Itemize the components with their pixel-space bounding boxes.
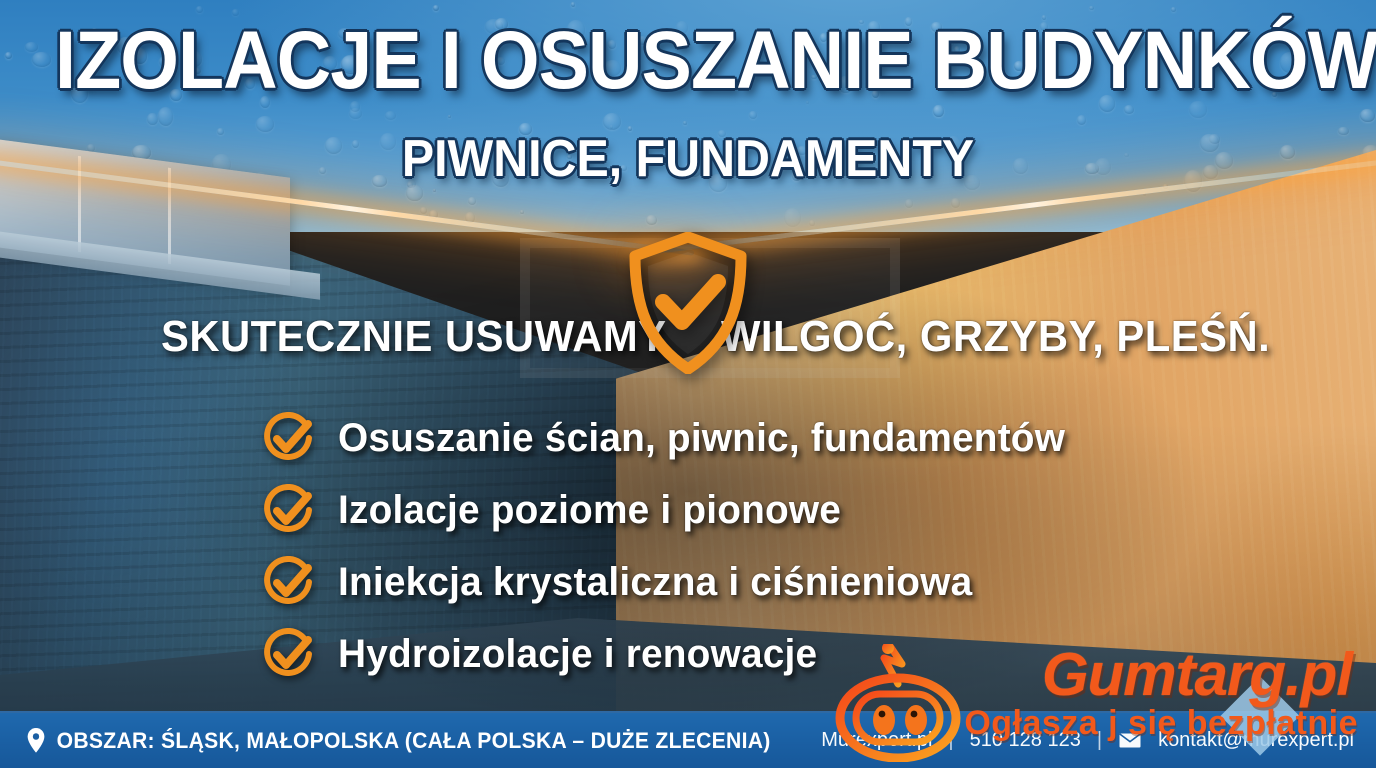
claim-right-text: WILGOĆ, GRZYBY, PLEŚŃ. <box>721 312 1215 362</box>
check-circle-icon <box>262 484 314 536</box>
footer-bar: OBSZAR: ŚLĄSK, MAŁOPOLSKA (CAŁA POLSKA –… <box>0 711 1376 768</box>
service-area-label: OBSZAR: ŚLĄSK, MAŁOPOLSKA (CAŁA POLSKA –… <box>57 728 771 754</box>
service-item: Hydroizolacje i renowacje <box>262 628 1088 680</box>
service-item-label: Iniekcja krystaliczna i ciśnieniowa <box>338 560 972 605</box>
phone-number[interactable]: 510 128 123 <box>970 729 1081 752</box>
service-item: Izolacje poziome i pionowe <box>262 484 1088 536</box>
service-area: OBSZAR: ŚLĄSK, MAŁOPOLSKA (CAŁA POLSKA –… <box>0 728 771 754</box>
headline-title: IZOLACJE I OSUSZANIE BUDYNKÓW <box>55 22 1321 101</box>
service-item-label: Izolacje poziome i pionowe <box>338 488 841 533</box>
advertisement-banner: IZOLACJE I OSUSZANIE BUDYNKÓW PIWNICE, F… <box>0 0 1376 768</box>
service-item: Iniekcja krystaliczna i ciśnieniowa <box>262 556 1088 608</box>
contact-info: Murexpert.pl | 510 128 123 | kontakt@mur… <box>821 729 1376 752</box>
company-name: Murexpert.pl <box>821 729 932 752</box>
service-item-label: Hydroizolacje i renowacje <box>338 632 817 677</box>
map-pin-icon <box>27 728 45 753</box>
claim-left-text: SKUTECZNIE USUWAMY <box>161 312 655 362</box>
ad-content: IZOLACJE I OSUSZANIE BUDYNKÓW PIWNICE, F… <box>0 0 1376 768</box>
shield-check-icon <box>625 232 751 374</box>
email-address[interactable]: kontakt@murexpert.pl <box>1158 729 1354 752</box>
contact-separator: | <box>948 729 953 752</box>
check-circle-icon <box>262 556 314 608</box>
check-circle-icon <box>262 628 314 680</box>
check-circle-icon <box>262 412 314 464</box>
services-list: Osuszanie ścian, piwnic, fundamentów Izo… <box>262 412 1088 680</box>
service-item-label: Osuszanie ścian, piwnic, fundamentów <box>338 416 1065 461</box>
service-item: Osuszanie ścian, piwnic, fundamentów <box>262 412 1088 464</box>
contact-separator: | <box>1097 729 1102 752</box>
envelope-icon <box>1118 732 1142 749</box>
headline-subtitle: PIWNICE, FUNDAMENTY <box>48 133 1328 185</box>
